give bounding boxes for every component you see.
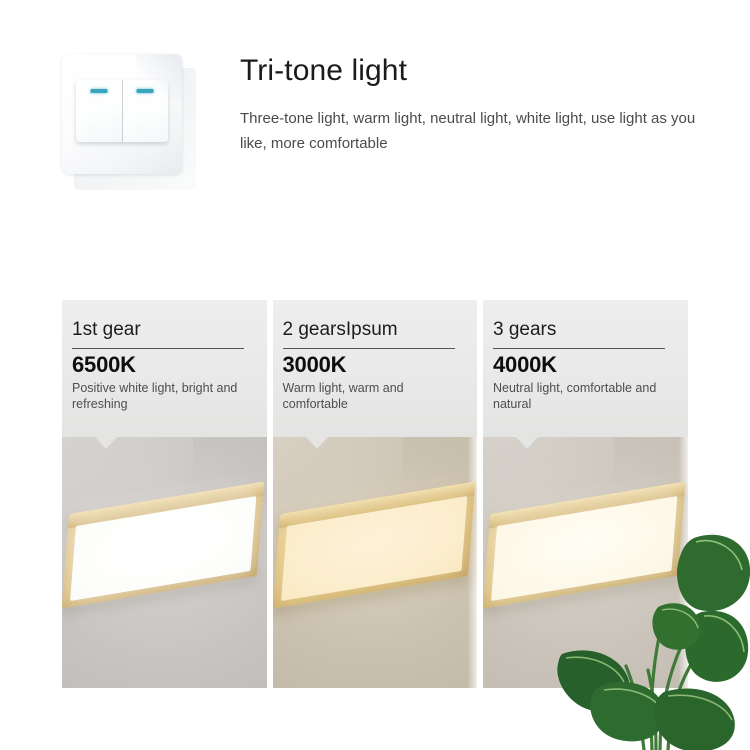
panel-kelvin-value: 3000K <box>283 352 466 378</box>
panel-caption: 1st gear 6500K Positive white light, bri… <box>62 300 267 437</box>
panel-kelvin-value: 4000K <box>493 352 676 378</box>
panel-divider <box>493 348 665 349</box>
panel-description: Neutral light, comfortable and natural <box>493 380 676 412</box>
light-mode-panel: 3 gears 4000K Neutral light, comfortable… <box>483 300 688 688</box>
page-subtitle: Three-tone light, warm light, neutral li… <box>240 106 710 156</box>
panel-photo <box>273 437 478 688</box>
panel-divider <box>283 348 455 349</box>
bottom-spacer <box>0 688 750 750</box>
wall-edge <box>468 437 477 688</box>
panel-notch-icon <box>516 437 538 449</box>
light-mode-panel: 2 gearsIpsum 3000K Warm light, warm and … <box>273 300 478 688</box>
page-title: Tri-tone light <box>240 52 407 90</box>
panel-gear-label: 2 gearsIpsum <box>283 318 466 342</box>
hero-section: Tri-tone light Three-tone light, warm li… <box>0 0 750 230</box>
panel-notch-icon <box>306 437 328 449</box>
panel-description: Positive white light, bright and refresh… <box>72 380 255 412</box>
light-mode-panel: 1st gear 6500K Positive white light, bri… <box>62 300 267 688</box>
panel-notch-icon <box>95 437 117 449</box>
panel-kelvin-value: 6500K <box>72 352 255 378</box>
panel-photo <box>483 437 688 688</box>
indicator-led-icon <box>137 89 154 93</box>
panel-gear-label: 3 gears <box>493 318 676 342</box>
panel-caption: 3 gears 4000K Neutral light, comfortable… <box>483 300 688 437</box>
product-detail-page: Tri-tone light Three-tone light, warm li… <box>0 0 750 750</box>
panel-photo <box>62 437 267 688</box>
panel-caption: 2 gearsIpsum 3000K Warm light, warm and … <box>273 300 478 437</box>
indicator-led-icon <box>90 89 107 93</box>
wall-switch-icon <box>62 54 192 186</box>
switch-rocker-left <box>76 80 122 142</box>
panel-gear-label: 1st gear <box>72 318 255 342</box>
panel-divider <box>72 348 244 349</box>
wall-edge <box>679 437 688 688</box>
switch-faceplate <box>62 54 182 174</box>
panel-description: Warm light, warm and comfortable <box>283 380 466 412</box>
switch-rocker-group <box>76 80 168 142</box>
light-mode-panel-list: 1st gear 6500K Positive white light, bri… <box>62 300 688 688</box>
switch-rocker-right <box>123 80 169 142</box>
